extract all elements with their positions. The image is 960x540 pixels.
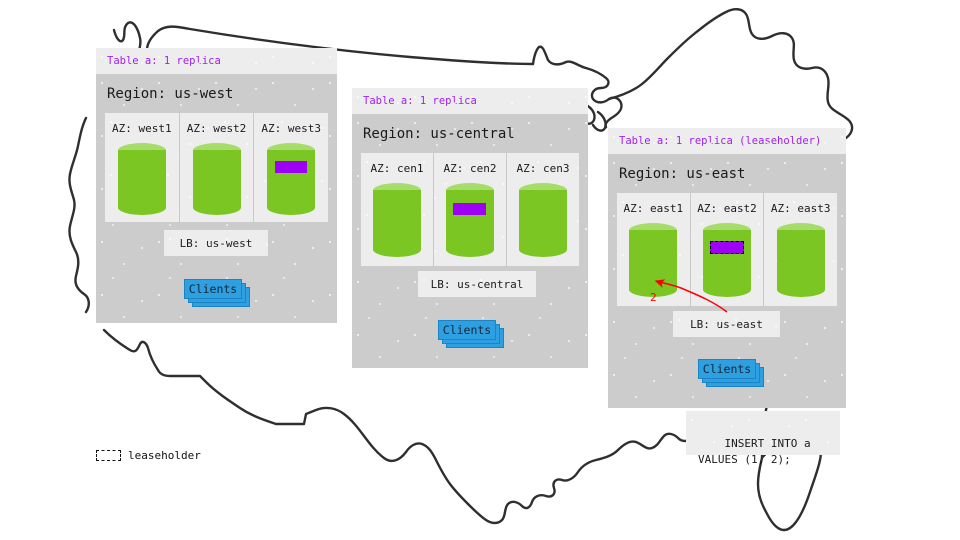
region-title-us-central: Region: us-central xyxy=(361,114,579,153)
lb-us-east[interactable]: LB: us-east xyxy=(673,311,780,337)
az-label: AZ: cen1 xyxy=(361,162,433,175)
node-cylinder[interactable] xyxy=(519,183,567,257)
node-cylinder[interactable] xyxy=(629,223,677,297)
az-label: AZ: cen3 xyxy=(507,162,579,175)
lb-us-west[interactable]: LB: us-west xyxy=(164,230,268,256)
az-label: AZ: cen2 xyxy=(434,162,506,175)
az-west1[interactable]: AZ: west1 xyxy=(105,113,179,222)
diagram-canvas: Table a: 1 replica Region: us-west AZ: w… xyxy=(0,0,960,540)
az-cen2[interactable]: AZ: cen2 xyxy=(433,153,506,266)
az-label: AZ: east1 xyxy=(617,202,690,215)
replica-block-cen2[interactable] xyxy=(453,203,486,215)
az-label: AZ: west3 xyxy=(254,122,328,135)
clients-label: Clients xyxy=(443,323,491,337)
az-label: AZ: east2 xyxy=(691,202,764,215)
region-header-us-east: Table a: 1 replica (leaseholder) xyxy=(608,128,846,154)
legend-label: leaseholder xyxy=(128,449,201,462)
lb-label: LB: us-east xyxy=(690,318,763,331)
node-cylinder[interactable] xyxy=(373,183,421,257)
lb-us-central[interactable]: LB: us-central xyxy=(418,271,536,297)
lb-label: LB: us-west xyxy=(180,237,253,250)
region-header-label: Table a: 1 replica (leaseholder) xyxy=(619,135,821,147)
az-east3[interactable]: AZ: east3 xyxy=(763,193,837,306)
legend: leaseholder xyxy=(96,449,201,462)
region-header-us-west: Table a: 1 replica xyxy=(96,48,337,74)
node-cylinder[interactable] xyxy=(118,143,166,215)
clients-us-east[interactable]: Clients xyxy=(698,359,768,389)
sql-statement-note: INSERT INTO a VALUES (1, 2); xyxy=(686,411,840,455)
az-container-us-central: AZ: cen1 AZ: cen2 xyxy=(361,153,579,266)
region-panel-us-central: Table a: 1 replica Region: us-central AZ… xyxy=(352,88,588,368)
region-header-us-central: Table a: 1 replica xyxy=(352,88,588,114)
az-label: AZ: east3 xyxy=(764,202,837,215)
replica-block-east2-leaseholder[interactable] xyxy=(710,241,744,254)
clients-label: Clients xyxy=(703,362,751,376)
region-title-us-west: Region: us-west xyxy=(105,74,328,113)
node-cylinder[interactable] xyxy=(193,143,241,215)
node-cylinder[interactable] xyxy=(703,223,751,297)
az-container-us-west: AZ: west1 AZ: west2 AZ xyxy=(105,113,328,222)
az-cen3[interactable]: AZ: cen3 xyxy=(506,153,579,266)
clients-label: Clients xyxy=(189,282,237,296)
region-header-label: Table a: 1 replica xyxy=(107,55,221,67)
az-container-us-east: AZ: east1 AZ: east2 xyxy=(617,193,837,306)
replica-block-west3[interactable] xyxy=(275,161,307,173)
region-panel-us-east: Table a: 1 replica (leaseholder) Region:… xyxy=(608,128,846,408)
node-cylinder[interactable] xyxy=(446,183,494,257)
lb-label: LB: us-central xyxy=(431,278,524,291)
clients-us-central[interactable]: Clients xyxy=(438,320,508,350)
az-west3[interactable]: AZ: west3 xyxy=(253,113,328,222)
node-cylinder[interactable] xyxy=(267,143,315,215)
az-west2[interactable]: AZ: west2 xyxy=(179,113,254,222)
az-label: AZ: west1 xyxy=(105,122,179,135)
az-label: AZ: west2 xyxy=(180,122,254,135)
clients-us-west[interactable]: Clients xyxy=(184,279,254,309)
az-cen1[interactable]: AZ: cen1 xyxy=(361,153,433,266)
dashed-rectangle-icon xyxy=(96,450,121,461)
node-cylinder[interactable] xyxy=(777,223,825,297)
region-header-label: Table a: 1 replica xyxy=(363,95,477,107)
region-title-us-east: Region: us-east xyxy=(617,154,837,193)
az-east2[interactable]: AZ: east2 xyxy=(690,193,764,306)
az-east1[interactable]: AZ: east1 xyxy=(617,193,690,306)
region-panel-us-west: Table a: 1 replica Region: us-west AZ: w… xyxy=(96,48,337,323)
